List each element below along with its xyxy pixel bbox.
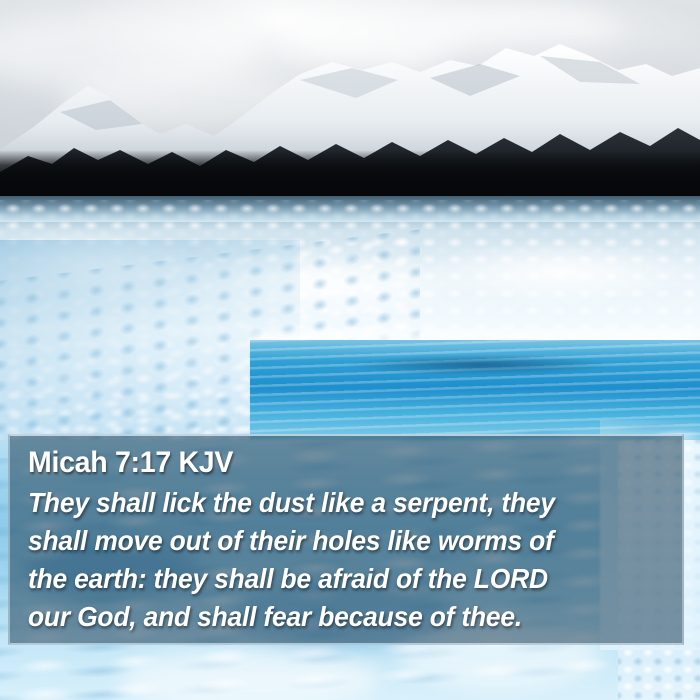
verse-text-line: shall move out of their holes like worms…: [28, 522, 642, 560]
verse-text-line: the earth: they shall be afraid of the L…: [28, 560, 642, 598]
verse-image-card: Micah 7:17 KJV They shall lick the dust …: [0, 0, 700, 700]
verse-text-line: our God, and shall fear because of thee.: [28, 598, 642, 636]
verse-reference: Micah 7:17 KJV: [28, 444, 636, 482]
dark-silhouette-band: [0, 150, 700, 202]
verse-text: They shall lick the dust like a serpent,…: [28, 484, 642, 636]
water-deep-patch: [300, 352, 660, 378]
verse-overlay-panel: Micah 7:17 KJV They shall lick the dust …: [8, 434, 684, 645]
verse-text-line: They shall lick the dust like a serpent,…: [28, 484, 642, 522]
